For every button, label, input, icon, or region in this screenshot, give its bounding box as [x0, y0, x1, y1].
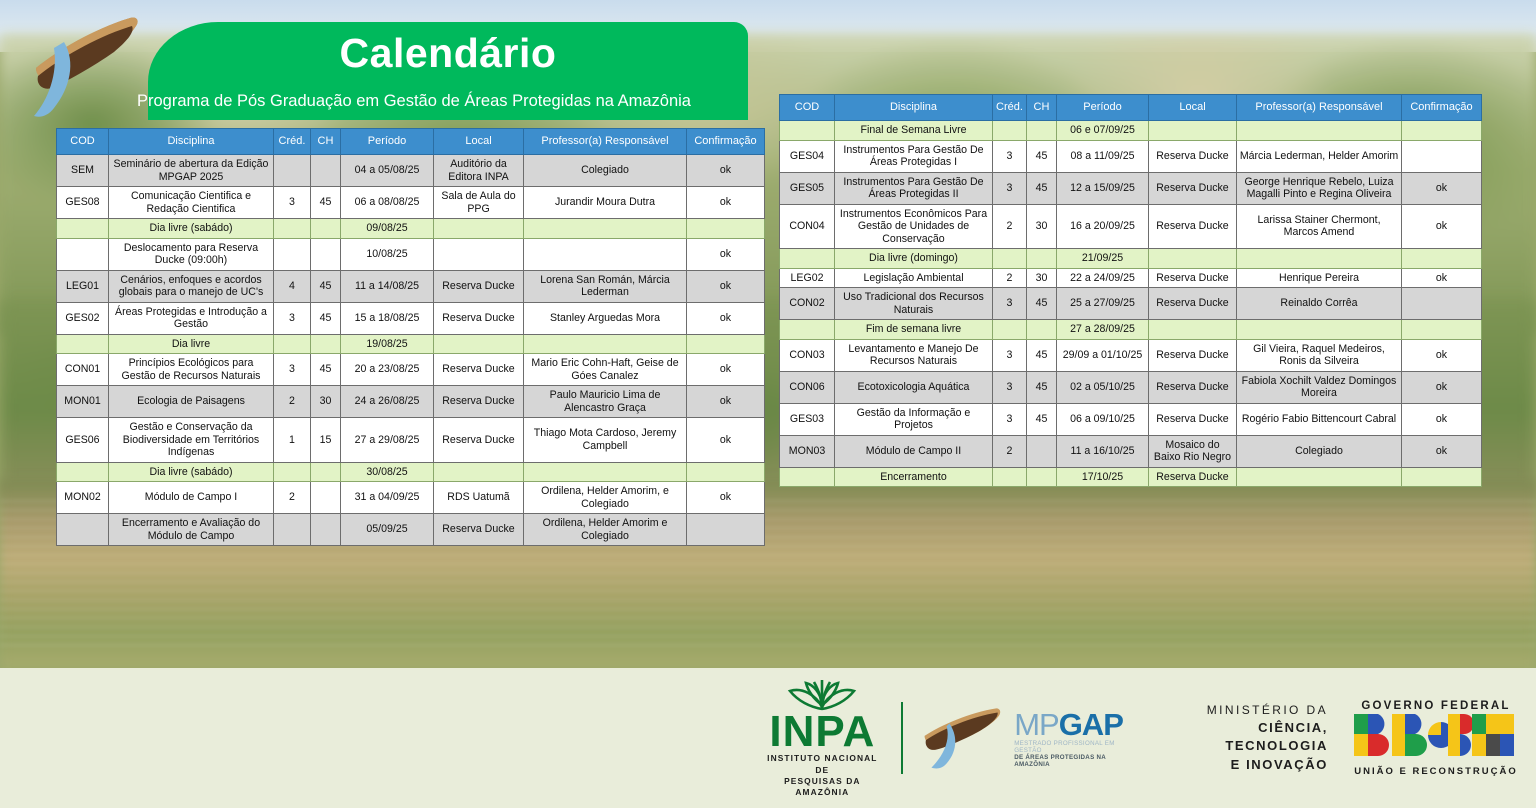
cell-ch — [311, 334, 341, 354]
cell-local: Mosaico do Baixo Rio Negro — [1149, 435, 1237, 467]
cell-professor — [524, 219, 687, 239]
cell-professor — [1237, 249, 1402, 269]
cell-local — [434, 462, 524, 482]
cell-local — [1149, 249, 1237, 269]
cell-periodo: 27 a 29/08/25 — [341, 418, 434, 463]
ministry-line1: MINISTÉRIO DA — [1162, 702, 1328, 719]
cell-disciplina: Dia livre (sabádo) — [109, 219, 274, 239]
cell-confirmacao: ok — [687, 155, 765, 187]
cell-ch — [1027, 467, 1057, 487]
cell-confirmacao: ok — [1402, 268, 1482, 288]
cell-cod — [780, 467, 835, 487]
cell-ch — [311, 462, 341, 482]
cell-periodo: 12 a 15/09/25 — [1057, 172, 1149, 204]
cell-periodo: 08 a 11/09/25 — [1057, 140, 1149, 172]
cell-cred: 3 — [274, 187, 311, 219]
table-row: LEG02Legislação Ambiental23022 a 24/09/2… — [780, 268, 1482, 288]
cell-periodo: 20 a 23/08/25 — [341, 354, 434, 386]
cell-confirmacao — [1402, 140, 1482, 172]
cell-ch: 30 — [311, 386, 341, 418]
cell-cred — [274, 238, 311, 270]
government-logo: GOVERNO FEDERAL — [1352, 700, 1520, 777]
cell-ch: 45 — [1027, 371, 1057, 403]
cell-ch — [1027, 320, 1057, 340]
cell-disciplina: Ecotoxicologia Aquática — [835, 371, 993, 403]
cell-disciplina: Final de Semana Livre — [835, 121, 993, 141]
cell-local: Reserva Ducke — [434, 418, 524, 463]
cell-ch — [311, 155, 341, 187]
table-row: CON06Ecotoxicologia Aquática34502 a 05/1… — [780, 371, 1482, 403]
cell-cred: 3 — [274, 302, 311, 334]
table-row: GES08Comunicação Cientifica e Redação Ci… — [57, 187, 765, 219]
cell-confirmacao — [1402, 288, 1482, 320]
table-header-row: COD Disciplina Créd. CH Período Local Pr… — [780, 95, 1482, 121]
cell-professor: Lorena San Román, Márcia Lederman — [524, 270, 687, 302]
cell-local: Reserva Ducke — [1149, 172, 1237, 204]
table-row: CON03Levantamento e Manejo De Recursos N… — [780, 339, 1482, 371]
logo-divider — [901, 702, 903, 774]
cell-cod: MON01 — [57, 386, 109, 418]
cell-ch — [1027, 435, 1057, 467]
cell-cred: 2 — [993, 435, 1027, 467]
cell-cod: GES08 — [57, 187, 109, 219]
cell-ch: 45 — [1027, 172, 1057, 204]
cell-confirmacao — [687, 462, 765, 482]
inpa-wordmark: INPA — [769, 711, 875, 753]
cell-periodo: 16 a 20/09/25 — [1057, 204, 1149, 249]
cell-periodo: 22 a 24/09/25 — [1057, 268, 1149, 288]
cell-disciplina: Dia livre (sabádo) — [109, 462, 274, 482]
cell-cod — [780, 320, 835, 340]
cell-cod: GES02 — [57, 302, 109, 334]
cell-cred — [993, 467, 1027, 487]
cell-local: Reserva Ducke — [1149, 371, 1237, 403]
cell-confirmacao: ok — [687, 302, 765, 334]
cell-professor — [1237, 121, 1402, 141]
cell-cred — [993, 121, 1027, 141]
cell-periodo: 31 a 04/09/25 — [341, 482, 434, 514]
table-body-right: Final de Semana Livre06 e 07/09/25GES04I… — [780, 121, 1482, 487]
cell-cred: 3 — [993, 371, 1027, 403]
cell-professor: Colegiado — [524, 155, 687, 187]
cell-disciplina: Instrumentos Para Gestão De Áreas Proteg… — [835, 172, 993, 204]
cell-confirmacao: ok — [1402, 204, 1482, 249]
column-header-disciplina: Disciplina — [109, 129, 274, 155]
cell-disciplina: Gestão da Informação e Projetos — [835, 403, 993, 435]
table-row: Final de Semana Livre06 e 07/09/25 — [780, 121, 1482, 141]
cell-disciplina: Módulo de Campo II — [835, 435, 993, 467]
cell-local: Reserva Ducke — [434, 386, 524, 418]
cell-disciplina: Encerramento — [835, 467, 993, 487]
cell-local: Reserva Ducke — [434, 514, 524, 546]
cell-local: RDS Uatumã — [434, 482, 524, 514]
cell-professor: Ordilena, Helder Amorim, e Colegiado — [524, 482, 687, 514]
cell-cred: 3 — [993, 288, 1027, 320]
cell-cod: CON06 — [780, 371, 835, 403]
cell-periodo: 29/09 a 01/10/25 — [1057, 339, 1149, 371]
table-row: Encerramento e Avaliação do Módulo de Ca… — [57, 514, 765, 546]
cell-cred — [274, 155, 311, 187]
cell-local — [1149, 121, 1237, 141]
cell-confirmacao — [687, 514, 765, 546]
calendar-table-left: COD Disciplina Créd. CH Período Local Pr… — [56, 128, 764, 546]
cell-professor: Stanley Arguedas Mora — [524, 302, 687, 334]
table-row: GES06Gestão e Conservação da Biodiversid… — [57, 418, 765, 463]
cell-cod: GES05 — [780, 172, 835, 204]
cell-confirmacao: ok — [687, 238, 765, 270]
cell-periodo: 06 a 09/10/25 — [1057, 403, 1149, 435]
column-header-confirmacao: Confirmação — [687, 129, 765, 155]
cell-ch: 45 — [311, 354, 341, 386]
cell-professor: Jurandir Moura Dutra — [524, 187, 687, 219]
mpgap-tagline-line2: DE ÁREAS PROTEGIDAS NA AMAZÔNIA — [1014, 754, 1136, 768]
cell-cred: 3 — [274, 354, 311, 386]
cell-confirmacao: ok — [1402, 435, 1482, 467]
inpa-tagline-line1: INSTITUTO NACIONAL DE — [760, 753, 885, 776]
cell-cred — [274, 334, 311, 354]
cell-confirmacao — [687, 219, 765, 239]
cell-disciplina: Módulo de Campo I — [109, 482, 274, 514]
cell-cod — [57, 238, 109, 270]
cell-periodo: 09/08/25 — [341, 219, 434, 239]
cell-disciplina: Comunicação Cientifica e Redação Cientif… — [109, 187, 274, 219]
cell-cod — [57, 219, 109, 239]
cell-cod — [57, 514, 109, 546]
cell-periodo: 04 a 05/08/25 — [341, 155, 434, 187]
cell-ch: 45 — [311, 270, 341, 302]
cell-professor: Fabiola Xochilt Valdez Domingos Moreira — [1237, 371, 1402, 403]
table-row: GES04Instrumentos Para Gestão De Áreas P… — [780, 140, 1482, 172]
cell-cred — [274, 514, 311, 546]
page-title: Calendário — [148, 30, 748, 77]
cell-disciplina: Encerramento e Avaliação do Módulo de Ca… — [109, 514, 274, 546]
cell-professor — [524, 462, 687, 482]
cell-confirmacao — [1402, 249, 1482, 269]
cell-disciplina: Dia livre — [109, 334, 274, 354]
cell-disciplina: Instrumentos Para Gestão De Áreas Proteg… — [835, 140, 993, 172]
cell-ch: 45 — [1027, 288, 1057, 320]
cell-ch: 30 — [1027, 268, 1057, 288]
mpgap-mp-text: MP — [1014, 707, 1059, 742]
cell-disciplina: Uso Tradicional dos Recursos Naturais — [835, 288, 993, 320]
cell-professor: Márcia Lederman, Helder Amorim — [1237, 140, 1402, 172]
table-row: Dia livre (sabádo)30/08/25 — [57, 462, 765, 482]
cell-cred — [274, 219, 311, 239]
table-row: Deslocamento para Reserva Ducke (09:00h)… — [57, 238, 765, 270]
column-header-creditos: Créd. — [274, 129, 311, 155]
table-row: MON03Módulo de Campo II211 a 16/10/25Mos… — [780, 435, 1482, 467]
column-header-periodo: Período — [341, 129, 434, 155]
cell-local: Reserva Ducke — [1149, 268, 1237, 288]
cell-periodo: 30/08/25 — [341, 462, 434, 482]
cell-cod: SEM — [57, 155, 109, 187]
cell-professor: Reinaldo Corrêa — [1237, 288, 1402, 320]
cell-confirmacao: ok — [687, 270, 765, 302]
cell-cod: GES04 — [780, 140, 835, 172]
page-subtitle: Programa de Pós Graduação em Gestão de Á… — [90, 92, 738, 111]
ministry-logo: MINISTÉRIO DA CIÊNCIA, TECNOLOGIA E INOV… — [1162, 702, 1328, 774]
cell-confirmacao: ok — [687, 354, 765, 386]
cell-periodo: 15 a 18/08/25 — [341, 302, 434, 334]
table-row: Dia livre19/08/25 — [57, 334, 765, 354]
cell-local: Reserva Ducke — [434, 354, 524, 386]
column-header-professor: Professor(a) Responsável — [524, 129, 687, 155]
cell-professor: Colegiado — [1237, 435, 1402, 467]
cell-ch: 45 — [1027, 403, 1057, 435]
government-bottom-text: UNIÃO E RECONSTRUÇÃO — [1352, 766, 1520, 777]
cell-disciplina: Legislação Ambiental — [835, 268, 993, 288]
cell-periodo: 11 a 14/08/25 — [341, 270, 434, 302]
table-row: Fim de semana livre27 a 28/09/25 — [780, 320, 1482, 340]
cell-confirmacao: ok — [1402, 172, 1482, 204]
table-row: CON04Instrumentos Econômicos Para Gestão… — [780, 204, 1482, 249]
cell-local: Reserva Ducke — [1149, 140, 1237, 172]
cell-confirmacao: ok — [687, 386, 765, 418]
cell-cod: CON02 — [780, 288, 835, 320]
cell-cod: CON04 — [780, 204, 835, 249]
cell-professor: Gil Vieira, Raquel Medeiros, Ronis da Si… — [1237, 339, 1402, 371]
cell-ch: 30 — [1027, 204, 1057, 249]
cell-cred: 2 — [993, 268, 1027, 288]
inpa-logo: INPA INSTITUTO NACIONAL DE PESQUISAS DA … — [760, 677, 885, 798]
cell-periodo: 02 a 05/10/25 — [1057, 371, 1149, 403]
cell-cod: GES06 — [57, 418, 109, 463]
cell-local: Auditório da Editora INPA — [434, 155, 524, 187]
cell-ch — [311, 238, 341, 270]
cell-periodo: 05/09/25 — [341, 514, 434, 546]
ministry-line2: CIÊNCIA, TECNOLOGIA — [1162, 719, 1328, 756]
cell-cred: 3 — [993, 339, 1027, 371]
cell-disciplina: Fim de semana livre — [835, 320, 993, 340]
column-header-ch: CH — [1027, 95, 1057, 121]
cell-cred: 3 — [993, 140, 1027, 172]
table-row: CON01Princípios Ecológicos para Gestão d… — [57, 354, 765, 386]
cell-professor — [1237, 320, 1402, 340]
column-header-ch: CH — [311, 129, 341, 155]
cell-professor — [1237, 467, 1402, 487]
table-row: Dia livre (sabádo)09/08/25 — [57, 219, 765, 239]
cell-cod — [780, 249, 835, 269]
column-header-local: Local — [1149, 95, 1237, 121]
cell-ch — [311, 219, 341, 239]
cell-ch: 45 — [311, 187, 341, 219]
cell-ch — [311, 514, 341, 546]
cell-local: Reserva Ducke — [434, 270, 524, 302]
column-header-professor: Professor(a) Responsável — [1237, 95, 1402, 121]
cell-cod — [57, 462, 109, 482]
column-header-disciplina: Disciplina — [835, 95, 993, 121]
cell-periodo: 19/08/25 — [341, 334, 434, 354]
cell-ch — [311, 482, 341, 514]
cell-disciplina: Instrumentos Econômicos Para Gestão de U… — [835, 204, 993, 249]
inpa-tagline-line2: PESQUISAS DA AMAZÔNIA — [760, 776, 885, 799]
column-header-cod: COD — [780, 95, 835, 121]
column-header-periodo: Período — [1057, 95, 1149, 121]
cell-disciplina: Cenários, enfoques e acordos globais par… — [109, 270, 274, 302]
cell-local: Sala de Aula do PPG — [434, 187, 524, 219]
cell-disciplina: Áreas Protegidas e Introdução a Gestão — [109, 302, 274, 334]
cell-professor — [524, 334, 687, 354]
cell-cod: CON03 — [780, 339, 835, 371]
mpgap-logo: MPGAP MESTRADO PROFISSIONAL EM GESTÃO DE… — [919, 707, 1136, 769]
table-row: MON02Módulo de Campo I231 a 04/09/25RDS … — [57, 482, 765, 514]
cell-ch: 45 — [1027, 140, 1057, 172]
cell-cred: 2 — [274, 386, 311, 418]
cell-disciplina: Dia livre (domingo) — [835, 249, 993, 269]
cell-cred: 3 — [993, 172, 1027, 204]
cell-cred — [993, 320, 1027, 340]
cell-ch: 45 — [311, 302, 341, 334]
mpgap-tagline-line1: MESTRADO PROFISSIONAL EM GESTÃO — [1014, 740, 1136, 754]
table-row: Encerramento17/10/25Reserva Ducke — [780, 467, 1482, 487]
cell-cod — [780, 121, 835, 141]
table-row: SEMSeminário de abertura da Edição MPGAP… — [57, 155, 765, 187]
cell-professor — [524, 238, 687, 270]
footer-logos: INPA INSTITUTO NACIONAL DE PESQUISAS DA … — [760, 676, 1520, 800]
calendar-table-right: COD Disciplina Créd. CH Período Local Pr… — [779, 94, 1481, 487]
cell-cod: LEG02 — [780, 268, 835, 288]
cell-confirmacao: ok — [687, 418, 765, 463]
cell-local: Reserva Ducke — [1149, 403, 1237, 435]
cell-disciplina: Seminário de abertura da Edição MPGAP 20… — [109, 155, 274, 187]
cell-cred — [274, 462, 311, 482]
cell-ch — [1027, 121, 1057, 141]
mpgap-gap-text: GAP — [1059, 707, 1123, 742]
cell-professor: Rogério Fabio Bittencourt Cabral — [1237, 403, 1402, 435]
cell-disciplina: Ecologia de Paisagens — [109, 386, 274, 418]
cell-disciplina: Levantamento e Manejo De Recursos Natura… — [835, 339, 993, 371]
column-header-creditos: Créd. — [993, 95, 1027, 121]
cell-disciplina: Princípios Ecológicos para Gestão de Rec… — [109, 354, 274, 386]
cell-periodo: 06 a 08/08/25 — [341, 187, 434, 219]
cell-professor: Mario Eric Cohn-Haft, Geise de Góes Cana… — [524, 354, 687, 386]
cell-periodo: 27 a 28/09/25 — [1057, 320, 1149, 340]
cell-local: Reserva Ducke — [434, 302, 524, 334]
table-row: MON01Ecologia de Paisagens23024 a 26/08/… — [57, 386, 765, 418]
column-header-cod: COD — [57, 129, 109, 155]
cell-confirmacao: ok — [1402, 403, 1482, 435]
government-top-text: GOVERNO FEDERAL — [1352, 700, 1520, 712]
cell-local: Reserva Ducke — [1149, 204, 1237, 249]
canoe-icon — [18, 8, 148, 120]
cell-confirmacao — [1402, 467, 1482, 487]
cell-local: Reserva Ducke — [1149, 467, 1237, 487]
cell-cred — [993, 249, 1027, 269]
cell-confirmacao — [1402, 320, 1482, 340]
cell-periodo: 17/10/25 — [1057, 467, 1149, 487]
cell-cred: 4 — [274, 270, 311, 302]
table-row: LEG01Cenários, enfoques e acordos globai… — [57, 270, 765, 302]
footer-bar: INPA INSTITUTO NACIONAL DE PESQUISAS DA … — [0, 668, 1536, 808]
cell-cred: 1 — [274, 418, 311, 463]
cell-confirmacao: ok — [1402, 339, 1482, 371]
cell-cred: 2 — [993, 204, 1027, 249]
cell-professor: George Henrique Rebelo, Luiza Magalli Pi… — [1237, 172, 1402, 204]
calendar-poster: Calendário Programa de Pós Graduação em … — [0, 0, 1536, 808]
cell-cod: GES03 — [780, 403, 835, 435]
cell-periodo: 24 a 26/08/25 — [341, 386, 434, 418]
cell-periodo: 21/09/25 — [1057, 249, 1149, 269]
cell-cred: 3 — [993, 403, 1027, 435]
cell-cred: 2 — [274, 482, 311, 514]
cell-professor: Paulo Mauricio Lima de Alencastro Graça — [524, 386, 687, 418]
table-body-left: SEMSeminário de abertura da Edição MPGAP… — [57, 155, 765, 546]
cell-local — [1149, 320, 1237, 340]
cell-professor: Henrique Pereira — [1237, 268, 1402, 288]
column-header-confirmacao: Confirmação — [1402, 95, 1482, 121]
table-header-row: COD Disciplina Créd. CH Período Local Pr… — [57, 129, 765, 155]
cell-periodo: 25 a 27/09/25 — [1057, 288, 1149, 320]
cell-local — [434, 219, 524, 239]
cell-periodo: 11 a 16/10/25 — [1057, 435, 1149, 467]
column-header-local: Local — [434, 129, 524, 155]
cell-local: Reserva Ducke — [1149, 288, 1237, 320]
cell-local — [434, 334, 524, 354]
ministry-line3: E INOVAÇÃO — [1162, 756, 1328, 774]
cell-ch — [1027, 249, 1057, 269]
cell-periodo: 10/08/25 — [341, 238, 434, 270]
table-row: Dia livre (domingo)21/09/25 — [780, 249, 1482, 269]
cell-professor: Thiago Mota Cardoso, Jeremy Campbell — [524, 418, 687, 463]
cell-professor: Larissa Stainer Chermont, Marcos Amend — [1237, 204, 1402, 249]
inpa-plant-icon — [774, 677, 870, 711]
cell-cod: LEG01 — [57, 270, 109, 302]
cell-confirmacao — [1402, 121, 1482, 141]
cell-cod: MON03 — [780, 435, 835, 467]
table-row: GES05Instrumentos Para Gestão De Áreas P… — [780, 172, 1482, 204]
cell-periodo: 06 e 07/09/25 — [1057, 121, 1149, 141]
cell-cod: MON02 — [57, 482, 109, 514]
cell-professor: Ordilena, Helder Amorim e Colegiado — [524, 514, 687, 546]
cell-local — [434, 238, 524, 270]
cell-confirmacao: ok — [1402, 371, 1482, 403]
cell-local: Reserva Ducke — [1149, 339, 1237, 371]
table-row: CON02Uso Tradicional dos Recursos Natura… — [780, 288, 1482, 320]
cell-cod: CON01 — [57, 354, 109, 386]
cell-ch: 15 — [311, 418, 341, 463]
table-row: GES03Gestão da Informação e Projetos3450… — [780, 403, 1482, 435]
cell-disciplina: Gestão e Conservação da Biodiversidade e… — [109, 418, 274, 463]
cell-disciplina: Deslocamento para Reserva Ducke (09:00h) — [109, 238, 274, 270]
cell-confirmacao: ok — [687, 482, 765, 514]
cell-confirmacao — [687, 334, 765, 354]
canoe-icon — [919, 707, 1009, 769]
cell-cod — [57, 334, 109, 354]
cell-confirmacao: ok — [687, 187, 765, 219]
table-row: GES02Áreas Protegidas e Introdução a Ges… — [57, 302, 765, 334]
brasil-wordmark-icon — [1352, 712, 1520, 758]
cell-ch: 45 — [1027, 339, 1057, 371]
